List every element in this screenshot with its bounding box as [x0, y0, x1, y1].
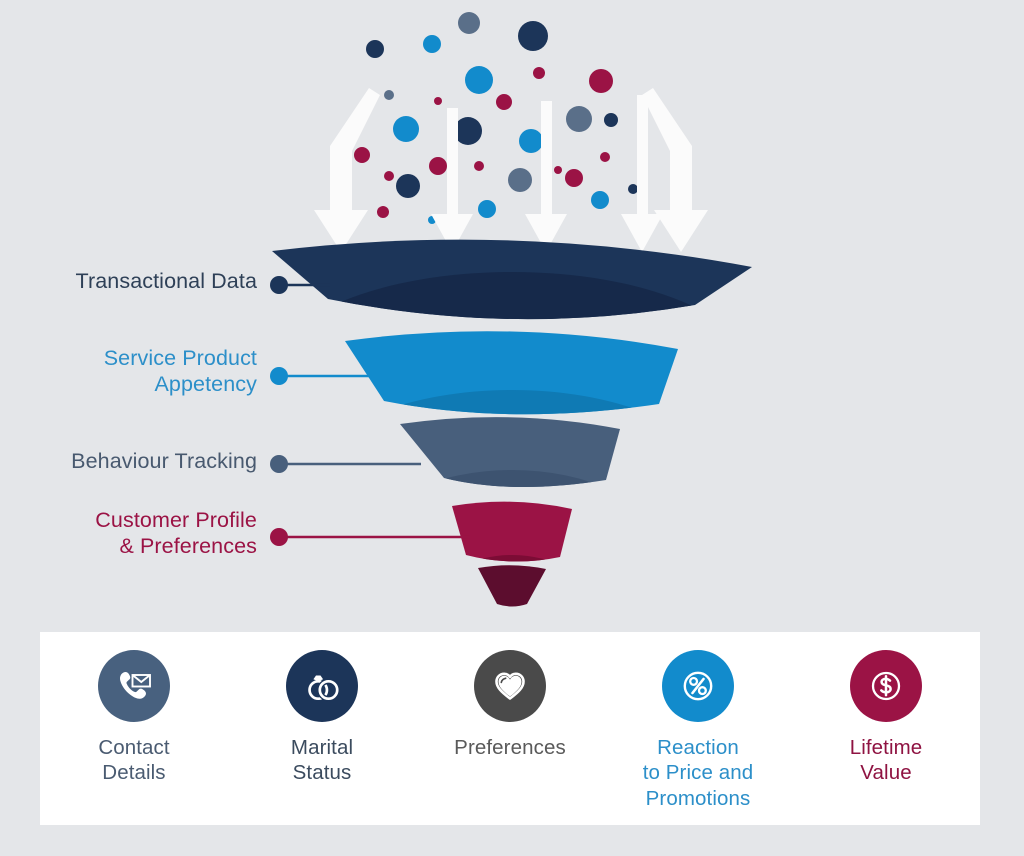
attribute-marital-status[interactable]: Marital Status: [234, 650, 410, 786]
heart-icon: [474, 650, 546, 722]
connector-customer-profile-preferences: [270, 528, 470, 546]
infographic-canvas: Transactional Data Service Product Appet…: [0, 0, 1024, 856]
connector-behaviour-tracking: [270, 455, 421, 473]
attribute-reaction-to-price-and-promotions[interactable]: Reaction to Price and Promotions: [610, 650, 786, 811]
attribute-label-reaction-to-price-and-promotions: Reaction to Price and Promotions: [643, 735, 754, 811]
funnel-label-customer-profile-preferences: Customer Profile & Preferences: [20, 507, 257, 559]
wedding-rings-icon: [286, 650, 358, 722]
funnel-layer-outflow-spout[interactable]: [478, 565, 546, 606]
attribute-label-marital-status: Marital Status: [291, 735, 353, 786]
attribute-label-contact-details: Contact Details: [98, 735, 169, 786]
percent-circle-icon: [662, 650, 734, 722]
attribute-label-preferences: Preferences: [454, 735, 566, 760]
connector-service-product-appetency: [270, 367, 372, 385]
inflow-arrows: [314, 88, 708, 252]
attribute-label-lifetime-value: Lifetime Value: [850, 735, 923, 786]
attribute-contact-details[interactable]: Contact Details: [46, 650, 222, 786]
attribute-lifetime-value[interactable]: Lifetime Value: [798, 650, 974, 786]
funnel-label-behaviour-tracking: Behaviour Tracking: [20, 448, 257, 474]
data-dot-field: [354, 12, 638, 224]
funnel-label-transactional-data: Transactional Data: [20, 268, 257, 294]
attribute-preferences[interactable]: Preferences: [422, 650, 598, 760]
dollar-coin-icon: [850, 650, 922, 722]
phone-envelope-icon: [98, 650, 170, 722]
funnel-label-service-product-appetency: Service Product Appetency: [20, 345, 257, 397]
customer-attributes-panel: Contact Details Marital Status: [40, 632, 980, 825]
